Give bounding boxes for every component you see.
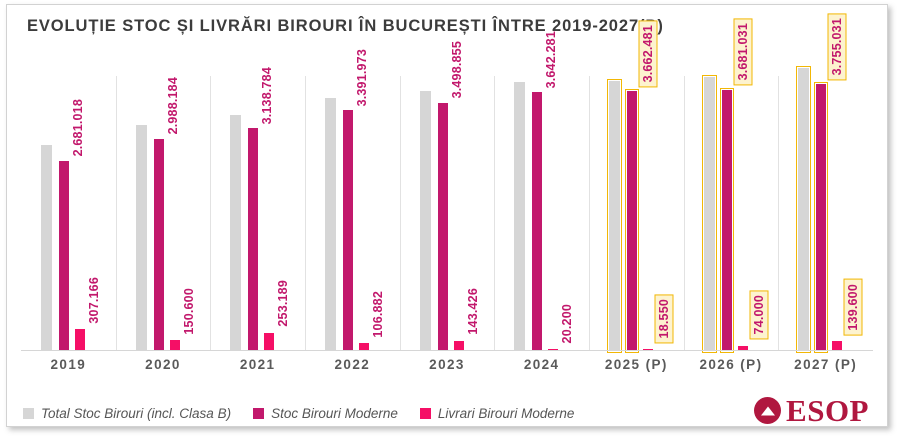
category-separator — [494, 76, 495, 350]
value-label: 3.498.855 — [451, 41, 464, 98]
value-label: 253.189 — [277, 280, 290, 327]
value-label: 150.600 — [183, 288, 196, 335]
legend-label: Stoc Birouri Moderne — [271, 406, 398, 421]
bar-modern-2020 — [154, 139, 164, 351]
bar-modern-2025 — [627, 91, 637, 351]
legend-item[interactable]: Stoc Birouri Moderne — [253, 406, 398, 421]
bar-total-2019 — [41, 145, 52, 351]
chart-card: EVOLUȚIE STOC ȘI LIVRĂRI BIROURI ÎN BUCU… — [6, 4, 888, 427]
axis-baseline — [21, 350, 873, 351]
bar-modern-2024 — [532, 92, 542, 351]
bar-total-2022 — [325, 98, 336, 351]
category-separator — [778, 76, 779, 350]
category-separator — [589, 76, 590, 350]
x-tick-2024: 2024 — [494, 357, 589, 372]
x-tick-2026: 2026 (P) — [684, 357, 779, 372]
category-separator — [400, 76, 401, 350]
bar-total-2027 — [798, 68, 809, 351]
chart-legend: Total Stoc Birouri (incl. Clasa B)Stoc B… — [23, 401, 596, 425]
value-label: 20.200 — [561, 304, 574, 343]
logo-wordmark: ESOP — [786, 395, 869, 426]
bar-total-2024 — [514, 82, 525, 351]
value-label: 2.988.184 — [167, 77, 180, 134]
legend-item[interactable]: Total Stoc Birouri (incl. Clasa B) — [23, 406, 231, 421]
value-label: 74.000 — [750, 290, 769, 339]
x-axis-labels: 2019202020212022202320242025 (P)2026 (P)… — [21, 357, 873, 383]
bar-total-2021 — [230, 115, 241, 351]
x-tick-2023: 2023 — [400, 357, 495, 372]
x-tick-2025: 2025 (P) — [589, 357, 684, 372]
bar-modern-2022 — [343, 110, 353, 351]
bar-deliv-2019 — [75, 329, 85, 351]
legend-label: Total Stoc Birouri (incl. Clasa B) — [41, 406, 231, 421]
bar-total-2020 — [136, 125, 147, 351]
legend-swatch — [23, 408, 34, 419]
category-separator — [684, 76, 685, 350]
value-label: 18.550 — [655, 294, 674, 343]
value-label: 3.138.784 — [261, 67, 274, 124]
value-label: 307.166 — [88, 277, 101, 324]
x-tick-2022: 2022 — [305, 357, 400, 372]
chart-title: EVOLUȚIE STOC ȘI LIVRĂRI BIROURI ÎN BUCU… — [27, 15, 827, 38]
x-tick-2027: 2027 (P) — [778, 357, 873, 372]
triangle-up-in-circle-icon — [754, 397, 781, 424]
value-label: 3.755.031 — [828, 13, 847, 80]
x-tick-2019: 2019 — [21, 357, 116, 372]
bar-modern-2023 — [438, 103, 448, 351]
legend-swatch — [253, 408, 264, 419]
value-label: 3.662.481 — [639, 20, 658, 87]
category-separator — [305, 76, 306, 350]
legend-label: Livrari Birouri Moderne — [438, 406, 575, 421]
legend-item[interactable]: Livrari Birouri Moderne — [420, 406, 575, 421]
category-separator — [210, 76, 211, 350]
esop-logo: ESOP — [754, 395, 869, 426]
bar-total-2026 — [704, 77, 715, 351]
legend-swatch — [420, 408, 431, 419]
bar-modern-2026 — [722, 90, 732, 351]
plot-area: 2.681.018307.1662.988.184150.6003.138.78… — [21, 67, 873, 351]
x-tick-2020: 2020 — [116, 357, 211, 372]
bar-total-2023 — [420, 91, 431, 351]
value-label: 106.882 — [372, 291, 385, 338]
category-separator — [116, 76, 117, 350]
value-label: 3.391.973 — [356, 49, 369, 106]
bar-deliv-2021 — [264, 333, 274, 351]
x-tick-2021: 2021 — [210, 357, 305, 372]
bar-modern-2021 — [248, 128, 258, 351]
value-label: 2.681.018 — [72, 99, 85, 156]
value-label: 3.642.281 — [545, 31, 558, 88]
bar-modern-2019 — [59, 161, 69, 351]
bar-modern-2027 — [816, 84, 826, 351]
value-label: 3.681.031 — [734, 18, 753, 85]
bar-total-2025 — [609, 81, 620, 352]
value-label: 139.600 — [844, 279, 863, 336]
value-label: 143.426 — [467, 288, 480, 335]
